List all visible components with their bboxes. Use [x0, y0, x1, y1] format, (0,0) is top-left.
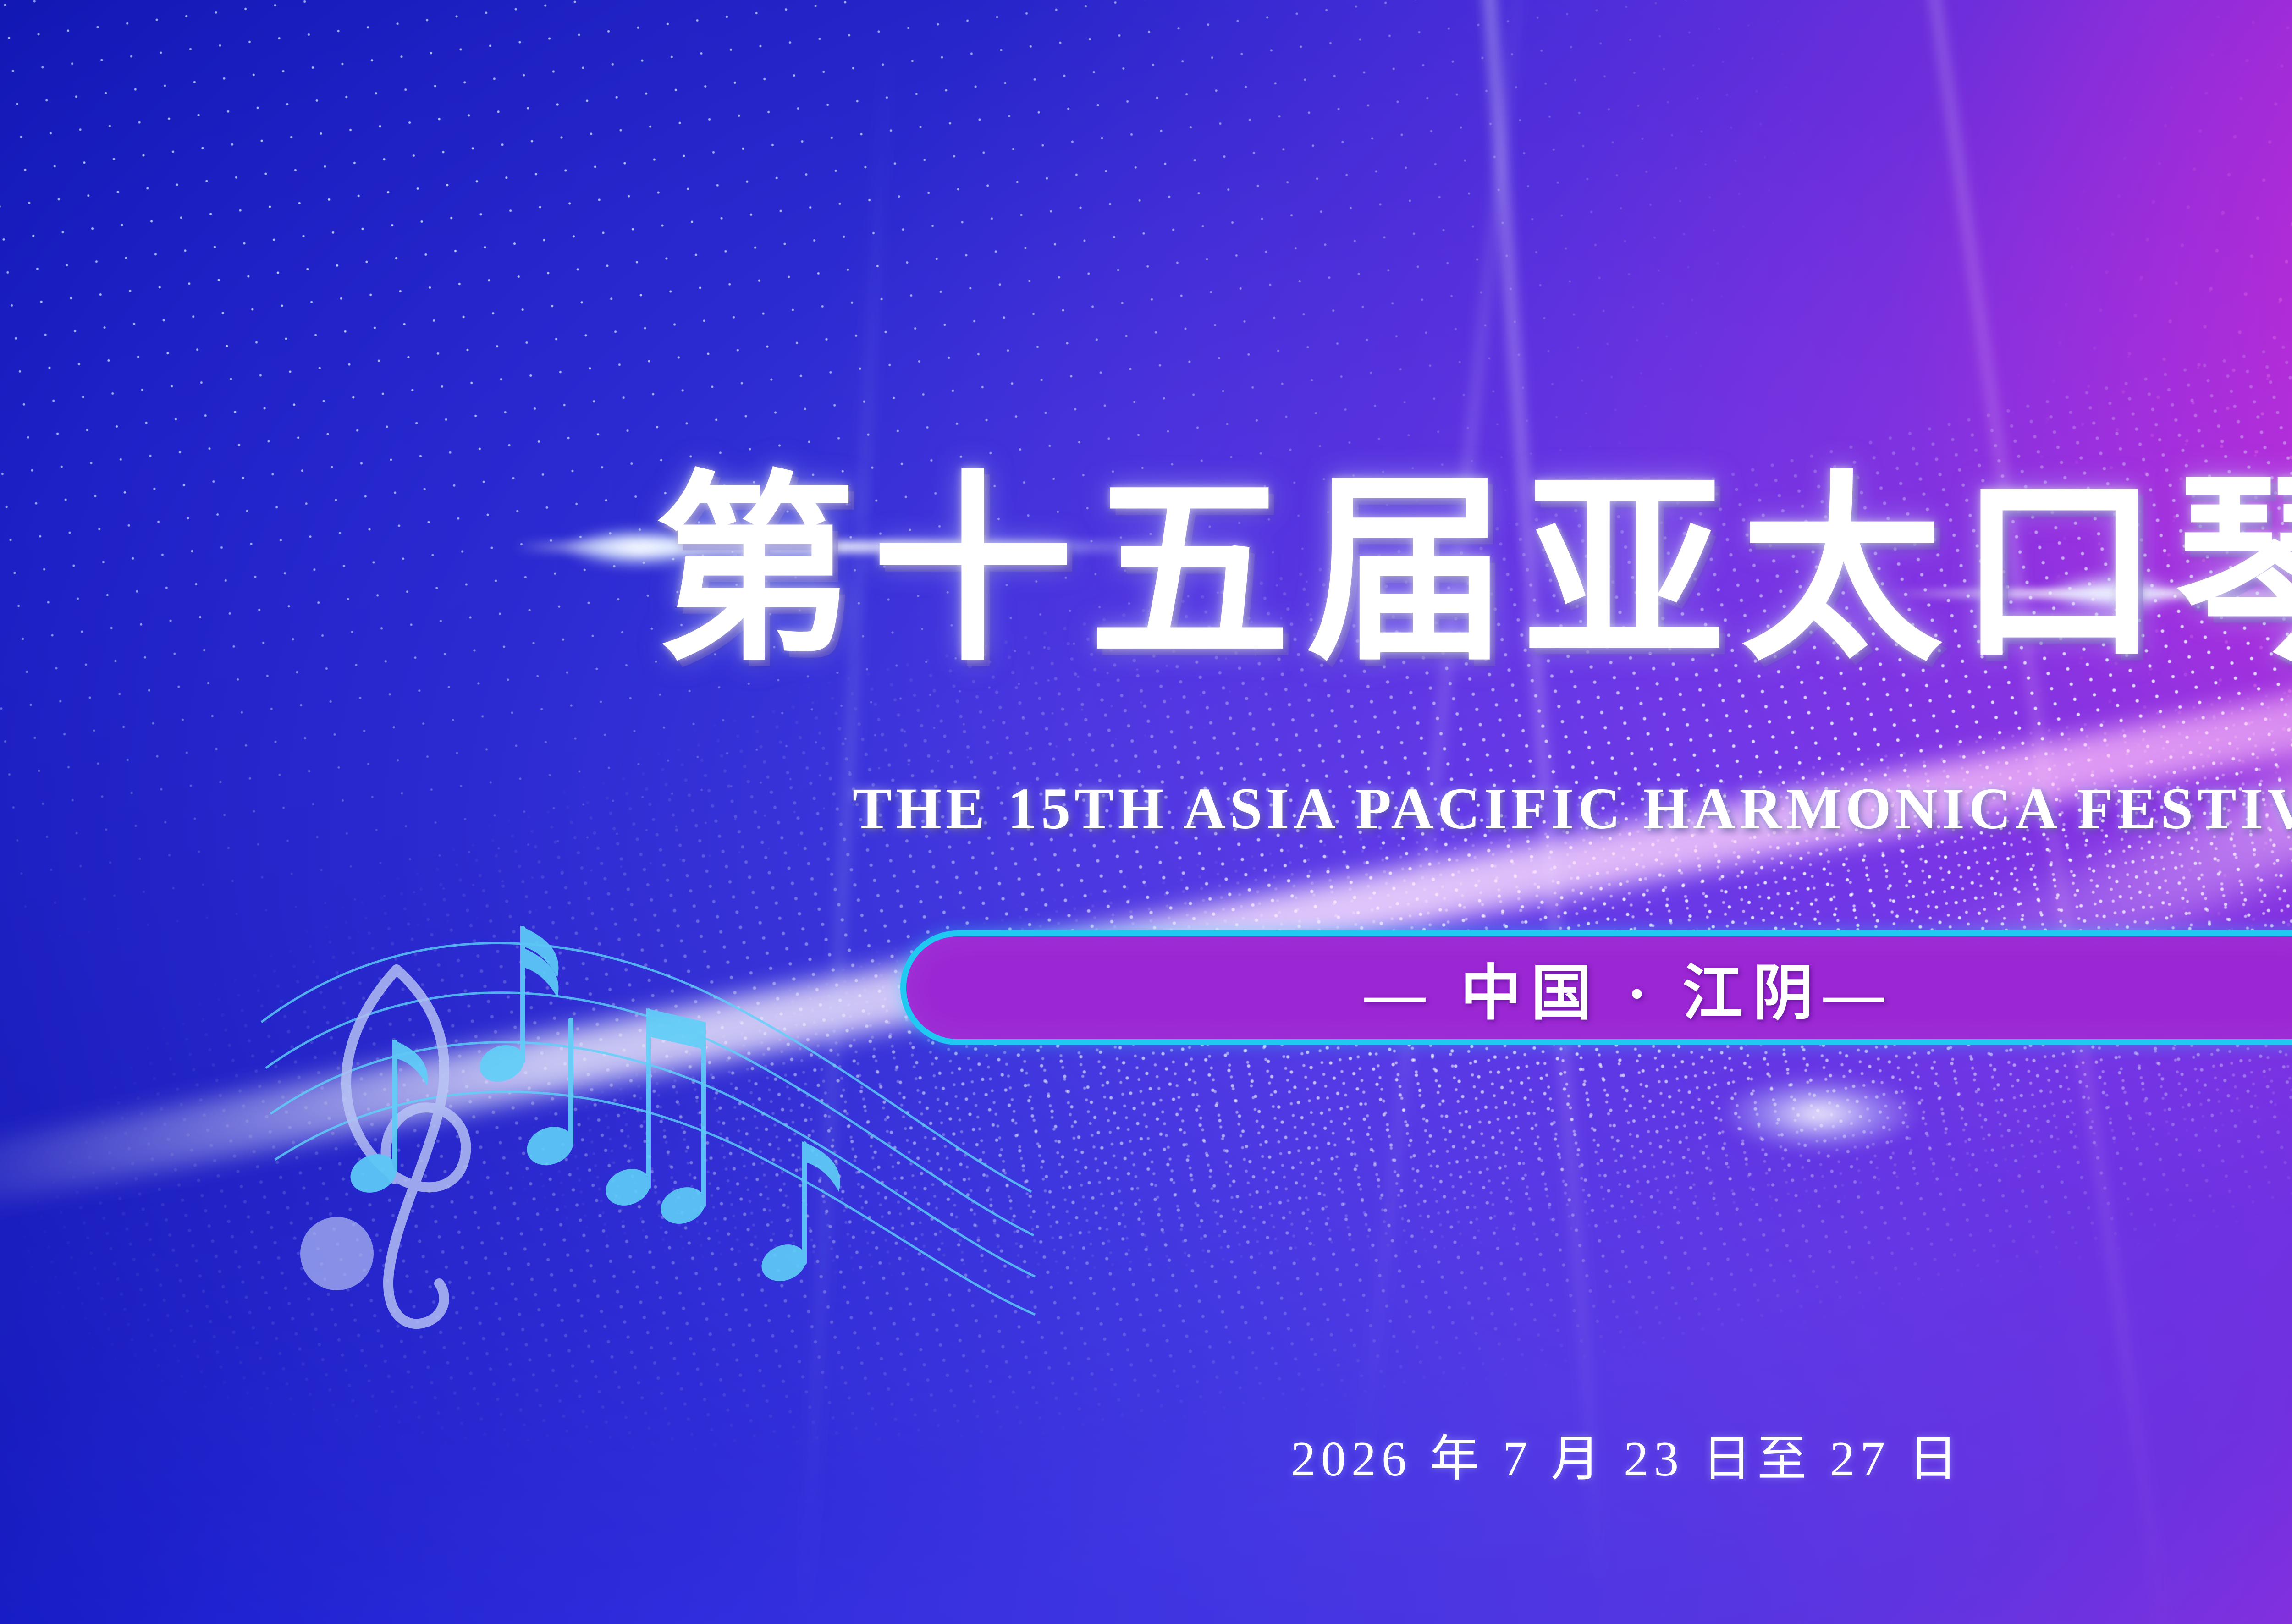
subtitle-english: THE 15TH ASIA PACIFIC HARMONICA FESTIVAL	[0, 779, 2292, 838]
event-date: 2026 年 7 月 23 日至 27 日	[0, 1435, 2292, 1484]
location-badge: — 中国 · 江阴—	[900, 930, 2292, 1045]
location-badge-wrapper: — 中国 · 江阴—	[0, 930, 2292, 1045]
page-title: 第十五届亚太口琴节	[0, 472, 2292, 674]
festival-banner: 第十五届亚太口琴节 THE 15TH ASIA PACIFIC HARMONIC…	[0, 0, 2292, 1624]
location-badge-label: — 中国 · 江阴—	[1355, 944, 1894, 1032]
